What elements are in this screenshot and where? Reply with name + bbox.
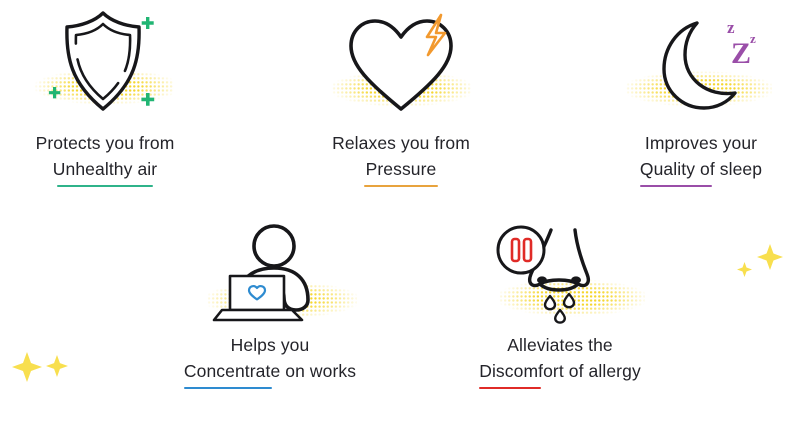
sparkle-right-small — [737, 262, 752, 282]
nose-with-drips-icon — [493, 222, 627, 326]
svg-text:z: z — [750, 31, 756, 46]
feature-quality-of-sleep[interactable]: Z z z Improves your Quality of sleep — [613, 6, 789, 182]
feature-pressure[interactable]: Relaxes you from Pressure — [313, 6, 489, 187]
svg-text:Z: Z — [731, 37, 751, 70]
underline-accent — [184, 387, 272, 389]
shield-icon — [45, 9, 165, 121]
icon-container-pressure — [316, 6, 486, 124]
person-at-laptop-icon — [204, 222, 336, 326]
icon-container-allergy — [475, 222, 645, 326]
caption-line-2: Concentrate on works — [184, 361, 356, 381]
caption-line-1: Alleviates the — [479, 332, 641, 358]
caption-allergy: Alleviates the Discomfort of allergy — [479, 332, 641, 384]
feature-allergy[interactable]: Alleviates the Discomfort of allergy — [462, 222, 658, 384]
caption-quality-of-sleep: Improves your Quality of sleep — [640, 130, 762, 182]
feature-grid: Protects you from Unhealthy air Relaxes … — [0, 0, 800, 424]
moon-icon: Z z z — [637, 11, 765, 119]
caption-concentrate: Helps you Concentrate on works — [184, 332, 356, 384]
caption-line-2: Pressure — [366, 159, 437, 179]
underline-accent — [479, 387, 541, 389]
underline-accent — [640, 185, 712, 187]
caption-line-1: Improves your — [640, 130, 762, 156]
caption-line-2: Discomfort of allergy — [479, 361, 641, 381]
caption-line-1: Helps you — [184, 332, 356, 358]
caption-line-1: Protects you from — [36, 130, 175, 156]
heart-icon — [339, 11, 463, 119]
pause-circle-icon — [498, 227, 544, 273]
zzz-icon: Z z z — [727, 18, 756, 70]
caption-line-1: Relaxes you from — [332, 130, 470, 156]
sparkle-bottom-left-large — [12, 352, 42, 387]
sparkle-bottom-left-small — [46, 355, 68, 382]
svg-text:z: z — [727, 18, 735, 37]
sparkle-right-large — [757, 244, 783, 275]
icon-container-unhealthy-air — [20, 6, 190, 124]
icon-container-quality-of-sleep: Z z z — [616, 6, 786, 124]
caption-line-2: Unhealthy air — [53, 159, 157, 179]
caption-pressure: Relaxes you from Pressure — [332, 130, 470, 187]
underline-accent — [364, 185, 438, 187]
icon-container-concentrate — [185, 222, 355, 326]
feature-concentrate[interactable]: Helps you Concentrate on works — [172, 222, 368, 384]
underline-accent — [57, 185, 153, 187]
feature-unhealthy-air[interactable]: Protects you from Unhealthy air — [22, 6, 188, 187]
caption-unhealthy-air: Protects you from Unhealthy air — [36, 130, 175, 187]
caption-line-2: Quality of sleep — [640, 159, 762, 179]
